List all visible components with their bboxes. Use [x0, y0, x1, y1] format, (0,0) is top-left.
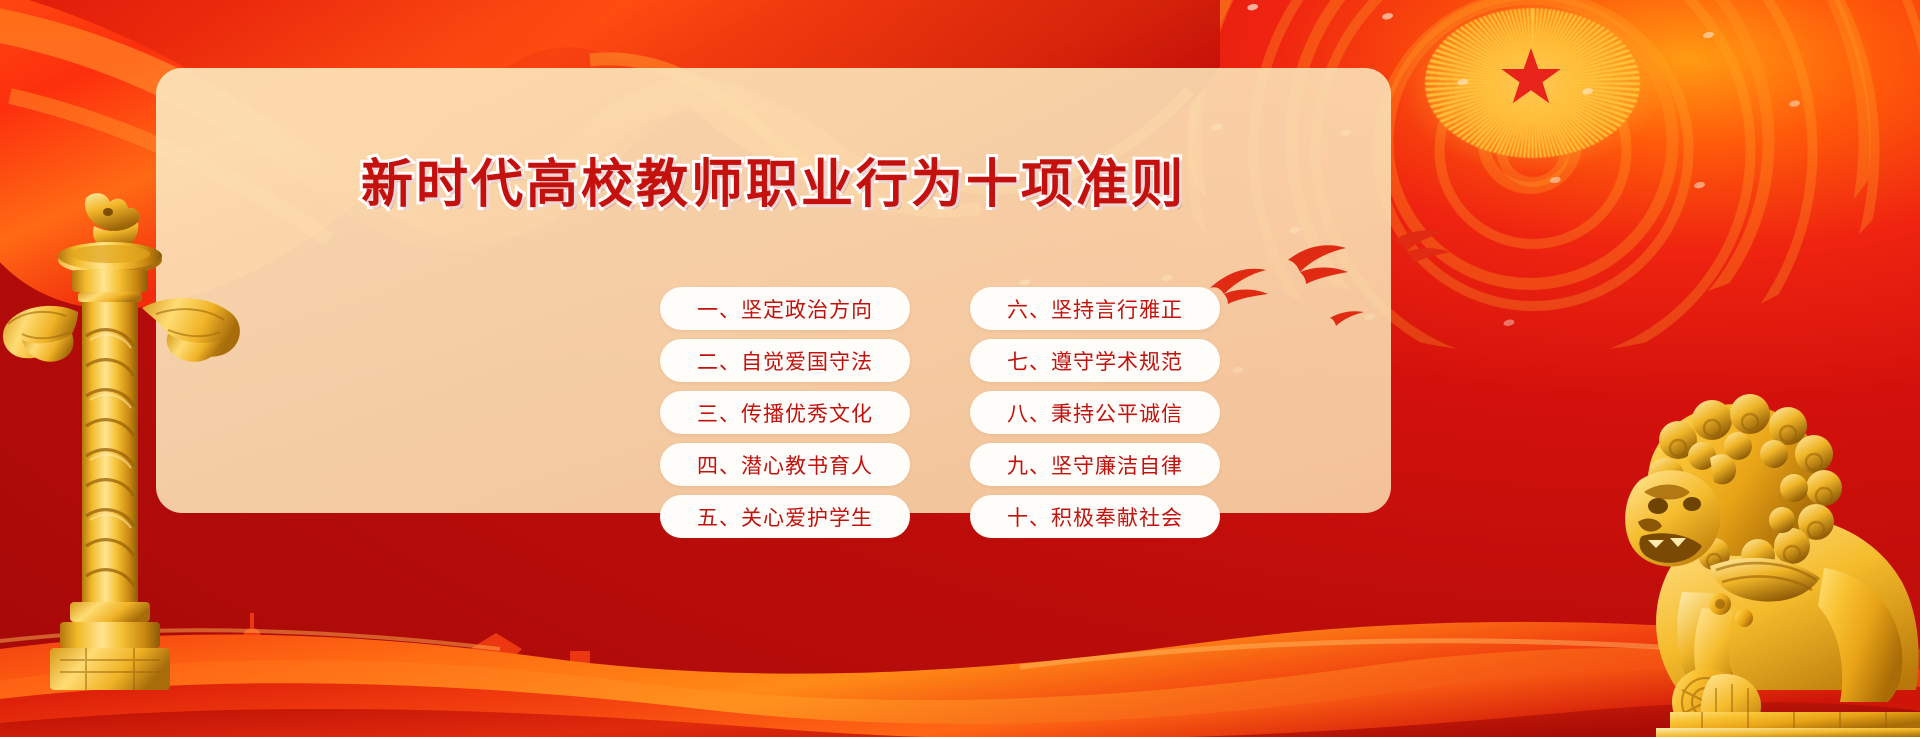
guideline-label: 二、自觉爱国守法	[697, 346, 873, 376]
page-title-wrap: 新时代高校教师职业行为十项准则	[156, 142, 1391, 217]
page-title: 新时代高校教师职业行为十项准则	[361, 142, 1186, 217]
banner-root: 新时代高校教师职业行为十项准则 一、坚定政治方向 六、坚持言行雅正 二、自觉爱国…	[0, 0, 1920, 737]
guideline-label: 七、遵守学术规范	[1007, 346, 1183, 376]
guideline-label: 三、传播优秀文化	[697, 398, 873, 428]
guideline-item-2[interactable]: 二、自觉爱国守法	[660, 339, 910, 382]
guideline-label: 一、坚定政治方向	[697, 294, 873, 324]
guideline-item-3[interactable]: 三、传播优秀文化	[660, 391, 910, 434]
guideline-label: 八、秉持公平诚信	[1007, 398, 1183, 428]
huabiao-column-icon	[0, 190, 260, 690]
guideline-item-8[interactable]: 八、秉持公平诚信	[970, 391, 1220, 434]
guideline-item-1[interactable]: 一、坚定政治方向	[660, 287, 910, 330]
guideline-label: 六、坚持言行雅正	[1007, 294, 1183, 324]
guardian-lion-icon	[1506, 330, 1920, 737]
